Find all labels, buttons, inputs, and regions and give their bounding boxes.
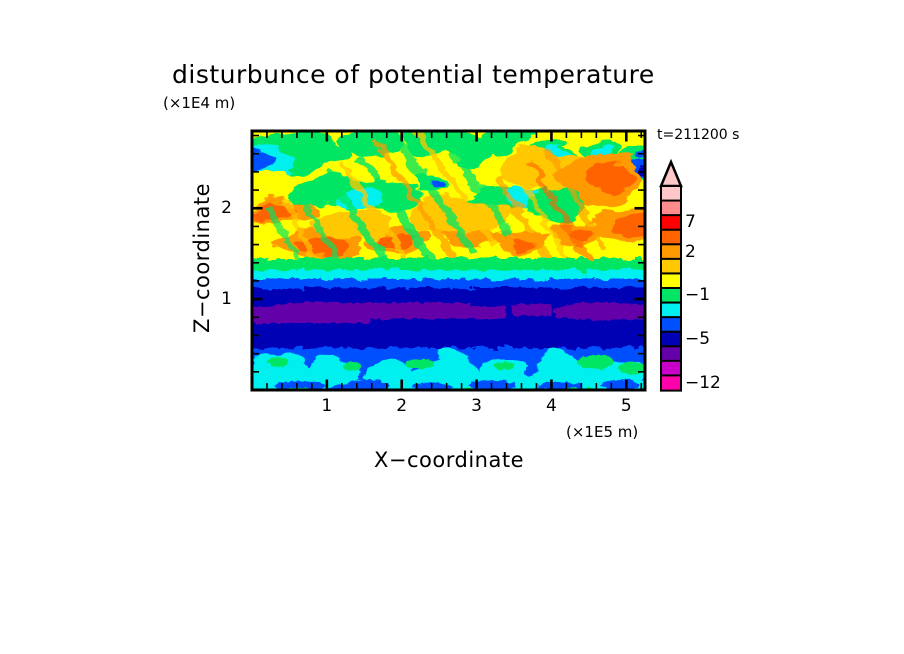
x-axis-units: (×1E5 m) — [566, 423, 638, 441]
time-annotation: t=211200 s — [657, 127, 739, 143]
colorbar-band — [661, 186, 681, 201]
colorbar-band — [661, 361, 681, 376]
x-tick-label: 2 — [396, 396, 407, 416]
colorbar-band — [661, 288, 681, 303]
colorbar-band — [661, 230, 681, 245]
x-tick-label: 1 — [321, 396, 332, 416]
colorbar-band — [661, 346, 681, 361]
navy-stable-layer — [244, 288, 654, 350]
x-tick-label: 3 — [471, 396, 482, 416]
y-axis-label: Z−coordinate — [190, 183, 214, 333]
colorbar-band — [661, 273, 681, 288]
colorbar-band — [661, 201, 681, 216]
y-axis-units: (×1E4 m) — [163, 94, 235, 112]
x-tick-label: 5 — [621, 396, 632, 416]
y-tick-label: 1 — [221, 289, 232, 309]
colorbar-band — [661, 375, 681, 390]
x-tick-label: 4 — [546, 396, 557, 416]
colorbar-tick-label: −1 — [685, 285, 710, 305]
colorbar-band — [661, 259, 681, 274]
colorbar-band — [661, 303, 681, 318]
colorbar-tick-label: −5 — [685, 329, 710, 349]
colorbar-band — [661, 317, 681, 332]
y-tick-label: 2 — [221, 198, 232, 218]
transition-band — [244, 258, 654, 291]
colorbar-tick-label: −12 — [685, 373, 721, 393]
contour-figure — [0, 0, 904, 654]
colorbar-band — [661, 244, 681, 259]
colorbar-band — [661, 215, 681, 230]
contour-field — [244, 104, 660, 400]
colorbar-band — [661, 332, 681, 347]
chart-title: disturbunce of potential temperature — [172, 60, 655, 89]
colorbar-tick-label: 2 — [685, 242, 696, 262]
x-axis-label: X−coordinate — [374, 448, 524, 472]
colorbar — [661, 162, 681, 391]
colorbar-tick-label: 7 — [685, 212, 696, 232]
